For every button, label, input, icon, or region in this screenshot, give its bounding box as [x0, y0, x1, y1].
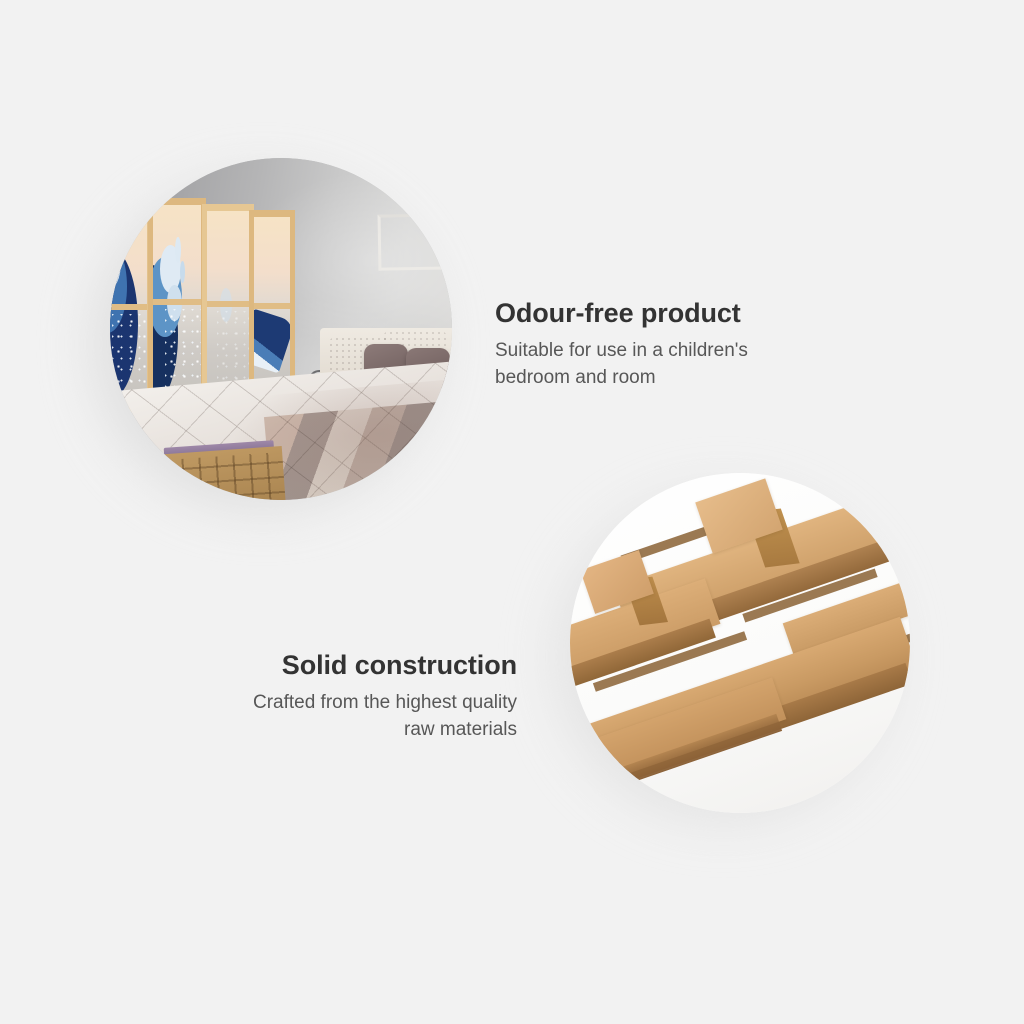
- screen-panel: [202, 204, 254, 408]
- wall-picture-frame-icon: [378, 213, 452, 270]
- infographic-canvas: Odour-free product Suitable for use in a…: [0, 0, 1024, 1024]
- feature-text-odour-free: Odour-free product Suitable for use in a…: [495, 298, 835, 392]
- feature-text-solid-construction: Solid construction Crafted from the high…: [155, 650, 517, 744]
- feature-title: Solid construction: [155, 650, 517, 681]
- screen-panel: [110, 206, 152, 412]
- feature-subtitle-line-1: Suitable for use in a children's: [495, 338, 835, 365]
- bedroom-photo: [110, 158, 452, 500]
- feature-subtitle-line-2: raw materials: [155, 717, 517, 744]
- screen-panel: [148, 198, 206, 410]
- timber-photo: [570, 473, 910, 813]
- feature-subtitle-line-1: Crafted from the highest quality: [155, 690, 517, 717]
- feature-title: Odour-free product: [495, 298, 835, 329]
- wicker-basket: [164, 446, 286, 500]
- feature-subtitle-line-2: bedroom and room: [495, 365, 835, 392]
